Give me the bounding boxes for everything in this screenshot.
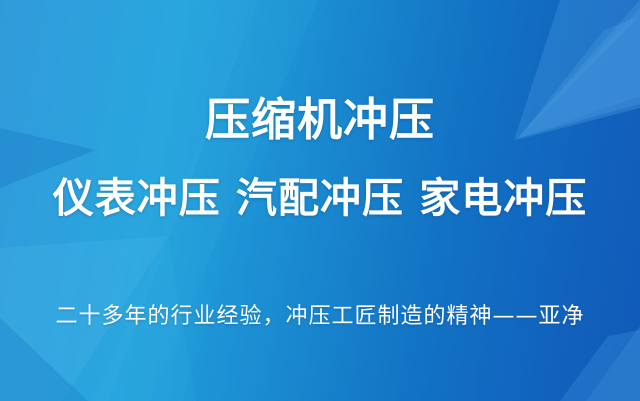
banner-tagline: 二十多年的行业经验，冲压工匠制造的精神——亚净 bbox=[0, 306, 640, 328]
banner-subtitle: 仪表冲压 汽配冲压 家电冲压 bbox=[0, 178, 640, 219]
banner-text-stack: 压缩机冲压 仪表冲压 汽配冲压 家电冲压 二十多年的行业经验，冲压工匠制造的精神… bbox=[0, 0, 640, 401]
promo-banner: 压缩机冲压 仪表冲压 汽配冲压 家电冲压 二十多年的行业经验，冲压工匠制造的精神… bbox=[0, 0, 640, 401]
banner-title: 压缩机冲压 bbox=[0, 97, 640, 142]
